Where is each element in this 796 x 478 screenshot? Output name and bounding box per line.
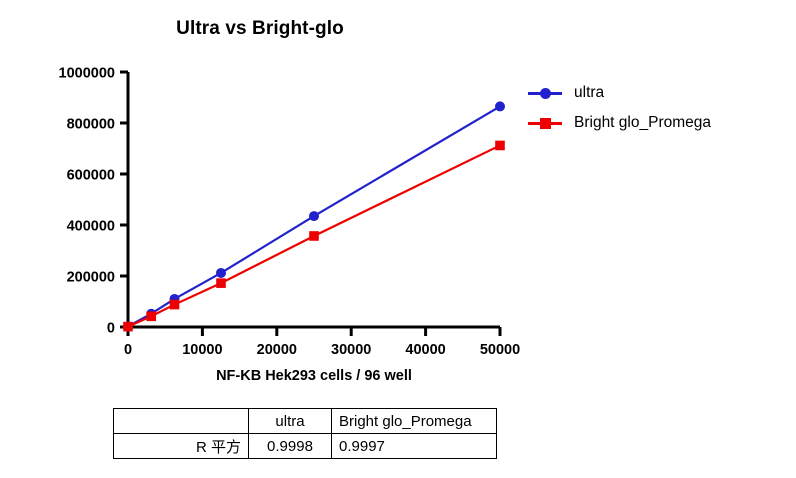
data-point-bright-glo <box>216 278 226 288</box>
y-tick-label: 0 <box>107 321 115 337</box>
x-tick-label: 10000 <box>182 342 222 358</box>
legend-marker-circle-icon <box>528 84 562 102</box>
table-cell-ultra-r2: 0.9998 <box>249 434 332 459</box>
legend-marker-square-icon <box>528 114 562 132</box>
table-cell-bright-r2: 0.9997 <box>332 434 497 459</box>
x-tick-label: 0 <box>124 342 132 358</box>
y-tick-label: 1000000 <box>59 66 115 82</box>
data-point-bright-glo <box>170 300 180 310</box>
y-tick-label: 600000 <box>67 168 115 184</box>
table-header-bright-glo: Bright glo_Promega <box>332 409 497 434</box>
chart-legend: ultra Bright glo_Promega <box>528 78 790 138</box>
y-tick-label: 400000 <box>67 219 115 235</box>
x-tick-label: 50000 <box>480 342 520 358</box>
legend-label-bright-glo: Bright glo_Promega <box>562 114 711 132</box>
plot-canvas: 0200000400000600000800000100000001000020… <box>0 0 796 478</box>
table-row: R 平方 0.9998 0.9997 <box>114 434 497 459</box>
x-tick-label: 20000 <box>257 342 297 358</box>
legend-label-ultra: ultra <box>562 84 604 102</box>
chart-figure: Ultra vs Bright-glo Luminecense NF-KB He… <box>0 0 796 478</box>
data-point-ultra <box>309 211 319 221</box>
legend-item-ultra[interactable]: ultra <box>528 78 790 108</box>
table-header-ultra: ultra <box>249 409 332 434</box>
table-row-label: R 平方 <box>114 434 249 459</box>
y-tick-label: 200000 <box>67 270 115 286</box>
data-point-bright-glo <box>309 231 319 241</box>
x-tick-label: 30000 <box>331 342 371 358</box>
x-tick-label: 40000 <box>405 342 445 358</box>
data-point-bright-glo <box>495 141 505 151</box>
legend-item-bright-glo[interactable]: Bright glo_Promega <box>528 108 790 138</box>
r-squared-table: ultra Bright glo_Promega R 平方 0.9998 0.9… <box>113 408 497 459</box>
data-point-ultra <box>216 268 226 278</box>
y-tick-label: 800000 <box>67 117 115 133</box>
table-corner-cell <box>114 409 249 434</box>
data-point-bright-glo <box>146 311 156 321</box>
table-header-row: ultra Bright glo_Promega <box>114 409 497 434</box>
data-point-ultra <box>495 101 505 111</box>
data-point-bright-glo <box>123 322 133 332</box>
